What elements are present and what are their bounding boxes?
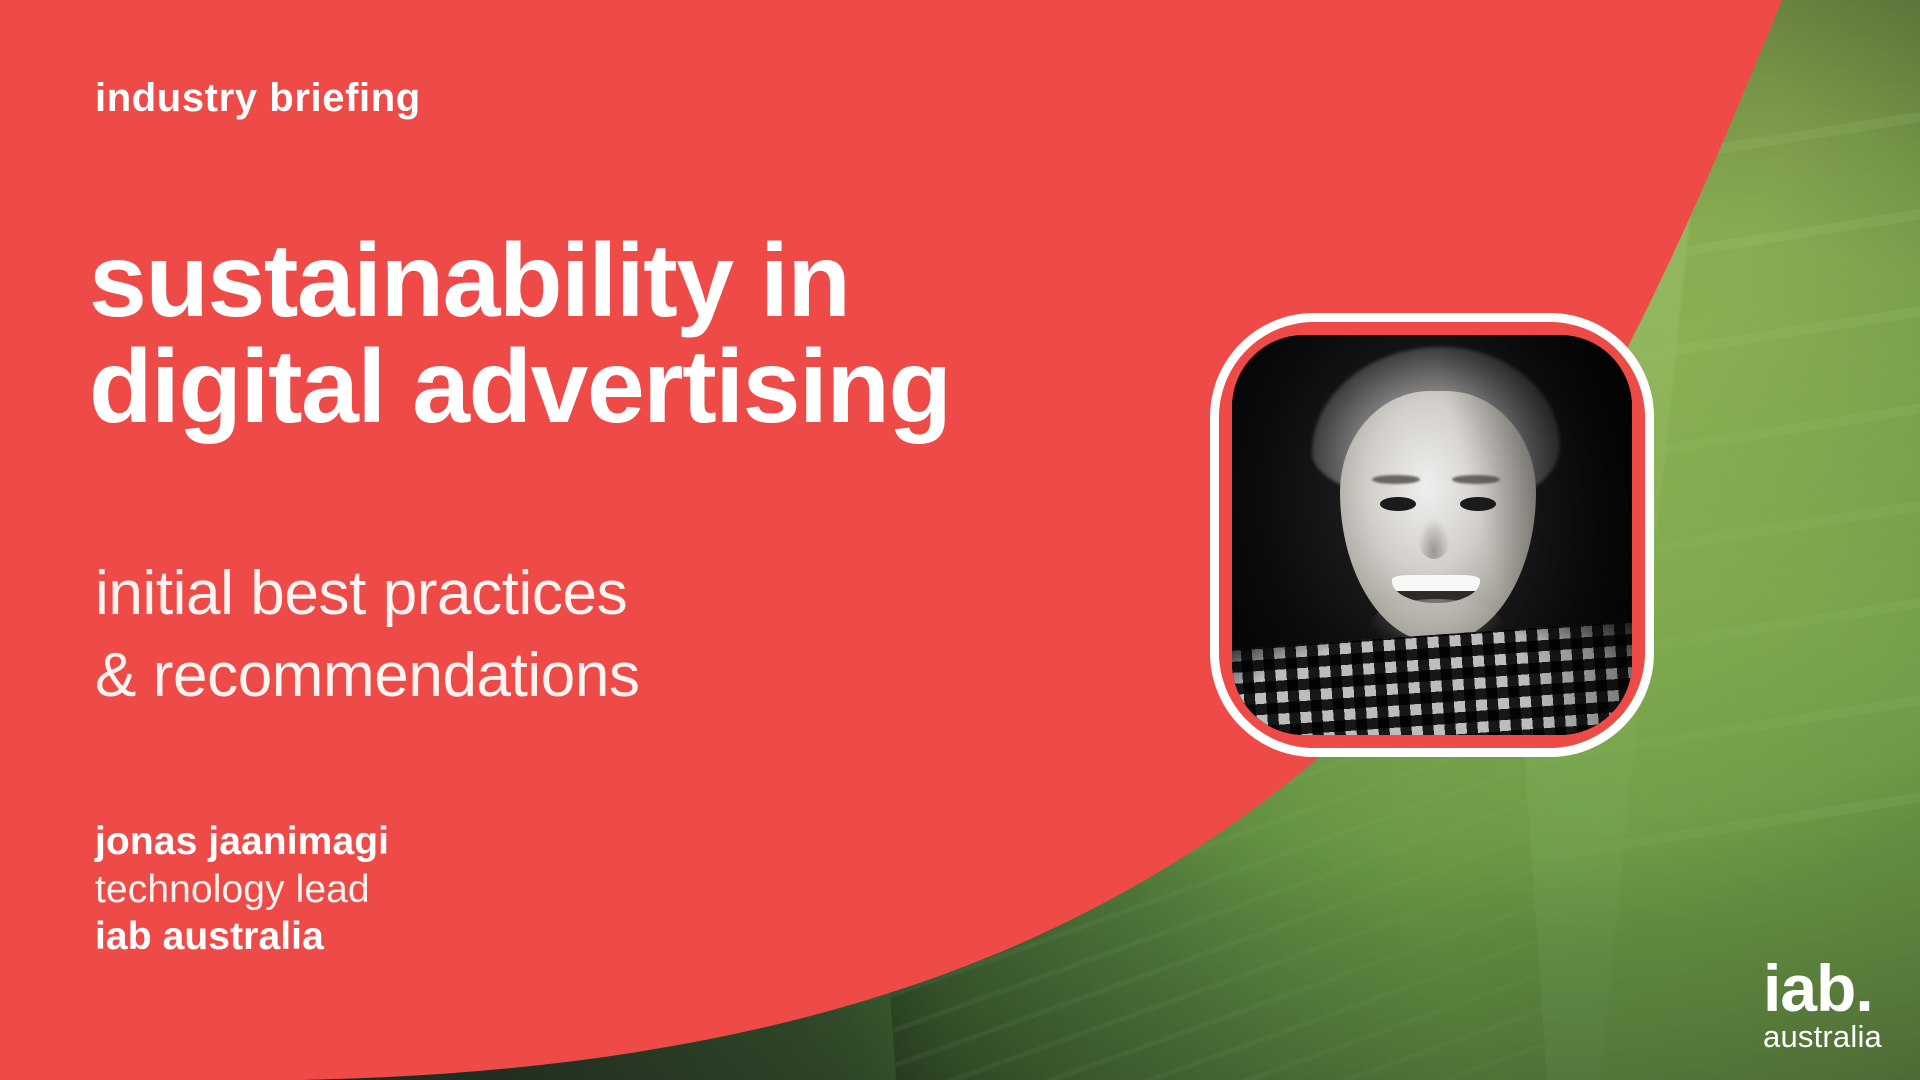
speaker-role: technology lead <box>95 866 389 914</box>
page-title: sustainability in digital advertising <box>89 228 950 440</box>
subtitle: initial best practices & recommendations <box>95 553 640 717</box>
avatar <box>1232 335 1632 735</box>
text-column: industry briefing sustainability in digi… <box>95 0 1175 1080</box>
iab-australia-logo: iab. australia <box>1763 960 1882 1052</box>
eyebrow-label: industry briefing <box>95 78 421 118</box>
speaker-name: jonas jaanimagi <box>95 818 389 866</box>
speaker-portrait-frame <box>1232 335 1632 735</box>
title-slide: industry briefing sustainability in digi… <box>0 0 1920 1080</box>
logo-wordmark: iab. <box>1763 960 1882 1017</box>
speaker-organisation: iab australia <box>95 913 389 961</box>
logo-subtext: australia <box>1763 1021 1882 1052</box>
speaker-credits: jonas jaanimagi technology lead iab aust… <box>95 818 389 961</box>
